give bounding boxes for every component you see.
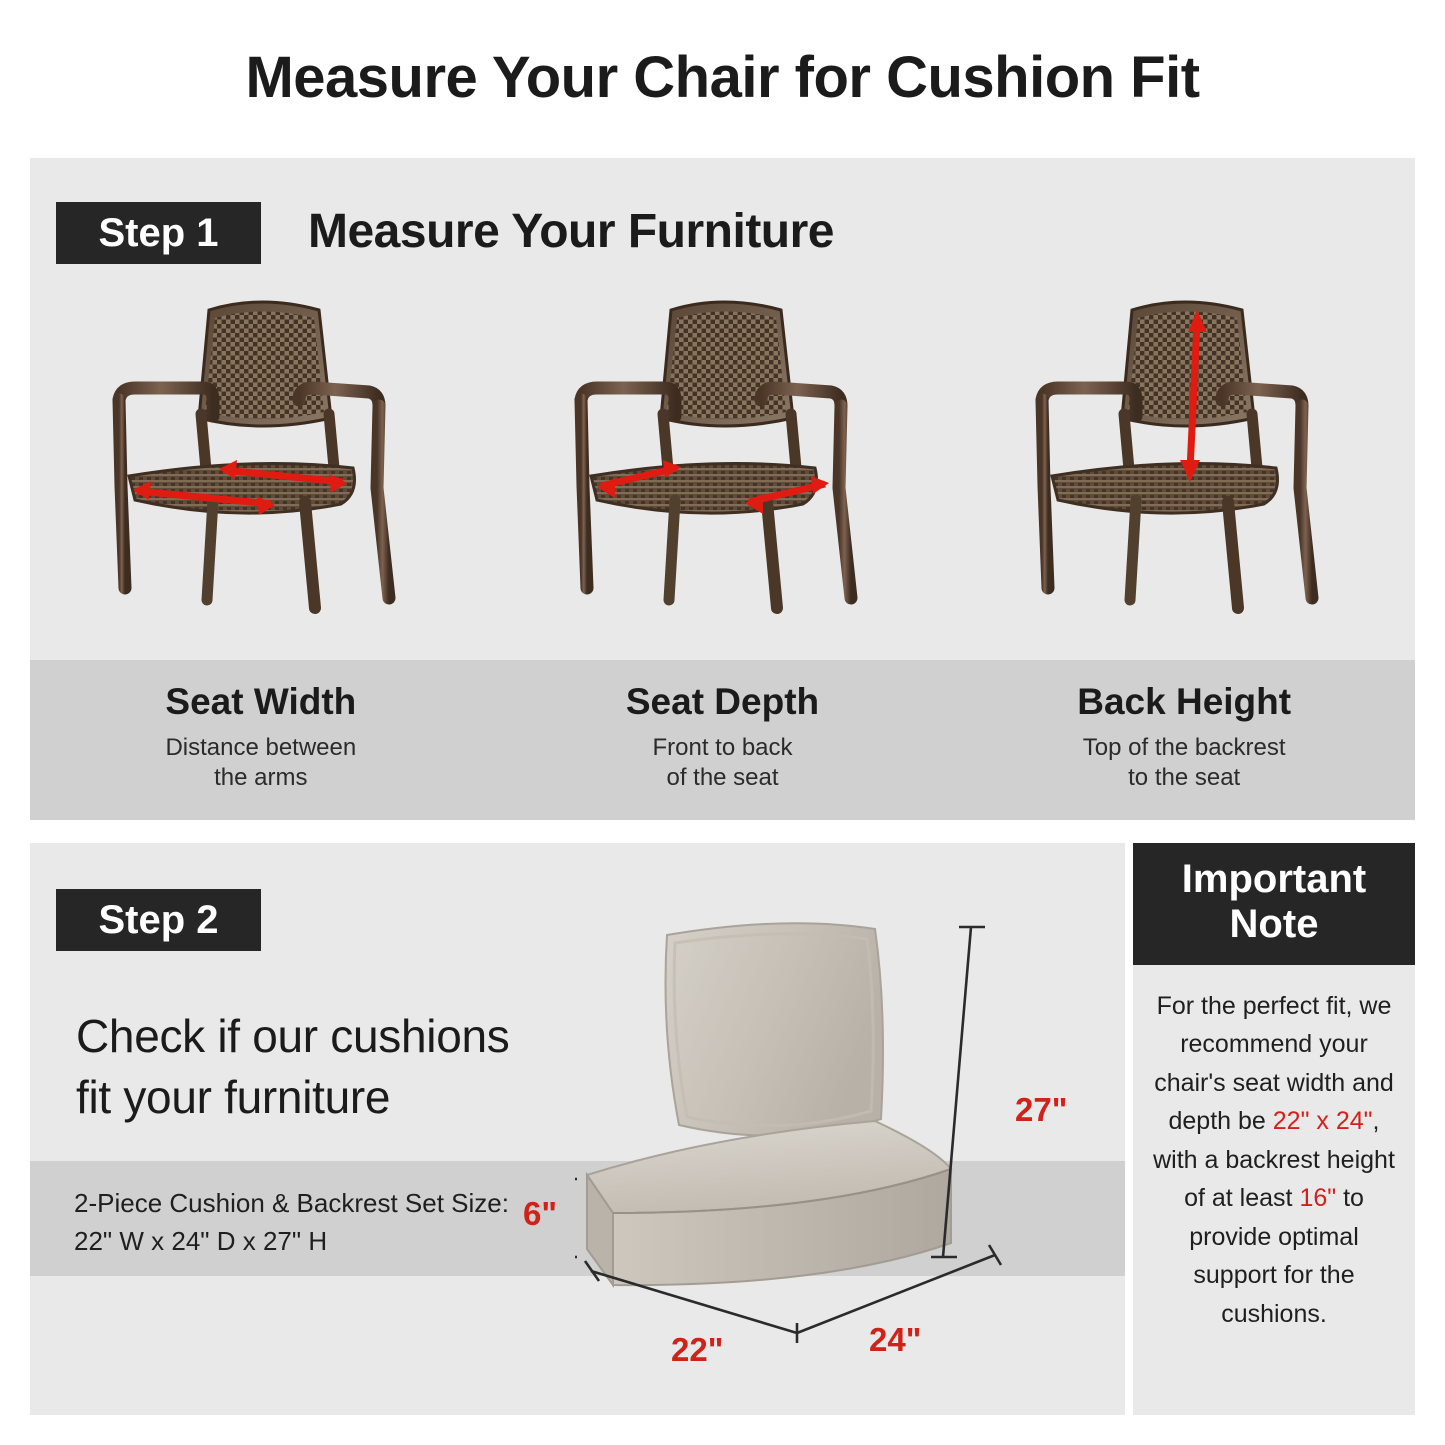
step2-panel: Step 2 Check if our cushions fit your fu… xyxy=(30,843,1125,1415)
caption-line1: Front to back xyxy=(652,734,792,761)
caption-line2: of the seat xyxy=(666,764,778,791)
important-note-body: For the perfect fit, we recommend your c… xyxy=(1133,965,1415,1344)
note-heading-line1: Important xyxy=(1182,857,1366,901)
note-heading-line2: Note xyxy=(1230,902,1319,946)
chair-seat-depth-cell xyxy=(492,288,954,658)
wicker-chair-back-height-icon xyxy=(1014,288,1354,658)
important-note-heading: Important Note xyxy=(1133,843,1415,965)
infographic-page: Measure Your Chair for Cushion Fit Step … xyxy=(0,0,1445,1445)
step2-heading-line1: Check if our cushions xyxy=(76,1010,509,1062)
caption-subtitle: Distance between the arms xyxy=(30,733,492,794)
set-size-line1: 2-Piece Cushion & Backrest Set Size: xyxy=(74,1188,509,1218)
set-size-line2: 22" W x 24" D x 27" H xyxy=(74,1226,327,1256)
dimension-label-height: 27" xyxy=(1015,1091,1067,1129)
dimension-line-thickness xyxy=(575,1179,577,1257)
caption-line1: Top of the backrest xyxy=(1083,734,1286,761)
caption-seat-width: Seat Width Distance between the arms xyxy=(30,660,492,820)
caption-seat-depth: Seat Depth Front to back of the seat xyxy=(492,660,954,820)
caption-title: Back Height xyxy=(953,682,1415,723)
caption-line1: Distance between xyxy=(165,734,356,761)
caption-subtitle: Front to back of the seat xyxy=(492,733,954,794)
note-text-part-3: 16" xyxy=(1299,1184,1336,1212)
chair-seat-width-cell xyxy=(30,288,492,658)
caption-back-height: Back Height Top of the backrest to the s… xyxy=(953,660,1415,820)
chair-back-height-cell xyxy=(953,288,1415,658)
page-title: Measure Your Chair for Cushion Fit xyxy=(0,44,1445,111)
dimension-label-width: 22" xyxy=(671,1331,723,1369)
chair-illustrations-row xyxy=(30,288,1415,658)
caption-line2: to the seat xyxy=(1128,764,1240,791)
wicker-chair-seat-width-icon xyxy=(91,288,431,658)
step1-badge: Step 1 xyxy=(56,202,261,264)
step2-heading-line2: fit your furniture xyxy=(76,1071,390,1123)
cushion-illustration: 27" 6" 22" 24" xyxy=(575,913,1095,1393)
caption-title: Seat Width xyxy=(30,682,492,723)
outdoor-cushion-set-icon xyxy=(575,913,1095,1393)
caption-title: Seat Depth xyxy=(492,682,954,723)
dimension-label-depth: 24" xyxy=(869,1321,921,1359)
caption-subtitle: Top of the backrest to the seat xyxy=(953,733,1415,794)
note-text-part-1: 22" x 24" xyxy=(1273,1107,1373,1135)
wicker-chair-seat-depth-icon xyxy=(553,288,893,658)
dimension-label-thickness: 6" xyxy=(523,1195,557,1233)
cushion-set-size-text: 2-Piece Cushion & Backrest Set Size: 22"… xyxy=(74,1185,509,1260)
important-note-panel: Important Note For the perfect fit, we r… xyxy=(1133,843,1415,1415)
step1-panel: Step 1 Measure Your Furniture xyxy=(30,158,1415,820)
step1-caption-band: Seat Width Distance between the arms Sea… xyxy=(30,660,1415,820)
step2-badge: Step 2 xyxy=(56,889,261,951)
caption-line2: the arms xyxy=(214,764,307,791)
step1-heading: Measure Your Furniture xyxy=(308,204,834,259)
